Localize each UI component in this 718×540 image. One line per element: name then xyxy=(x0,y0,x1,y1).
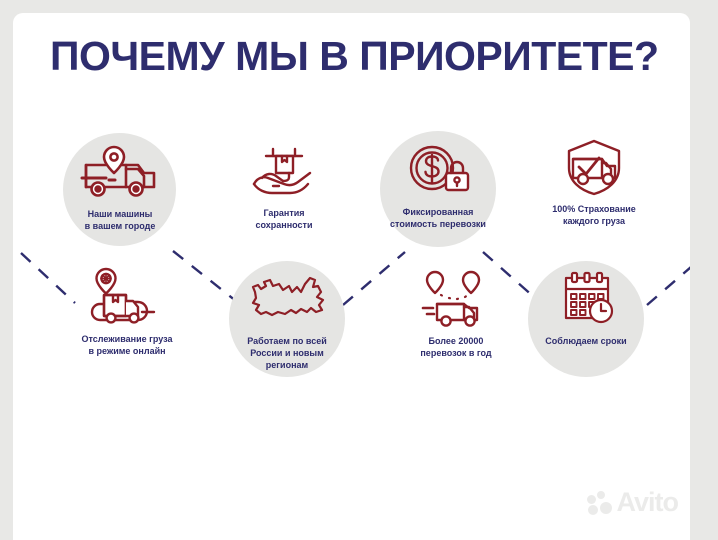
feature-all-russia: Работаем по всей России и новым регионам xyxy=(212,272,362,371)
feature-shipments-per-year: Более 20000 перевозок в год xyxy=(381,272,531,359)
feature-insurance: 100% Страхование каждого груза xyxy=(519,140,669,227)
caption-on-time: Соблюдаем сроки xyxy=(511,335,661,347)
caption-safety-guarantee: Гарантия сохранности xyxy=(209,207,359,231)
caption-all-russia: Работаем по всей России и новым регионам xyxy=(212,335,362,371)
caption-shipments-per-year: Более 20000 перевозок в год xyxy=(381,335,531,359)
feature-safety-guarantee: Гарантия сохранности xyxy=(209,144,359,231)
calendar-clock-icon xyxy=(511,272,661,328)
caption-fixed-price: Фиксированная стоимость перевозки xyxy=(363,206,513,230)
avito-watermark: Avito xyxy=(587,487,679,518)
caption-online-tracking: Отслеживание груза в режиме онлайн xyxy=(52,333,202,357)
russia-map-icon xyxy=(212,272,362,328)
avito-logo-icon xyxy=(587,491,613,515)
page-title: ПОЧЕМУ МЫ В ПРИОРИТЕТЕ? xyxy=(50,33,659,80)
poster-card: ПОЧЕМУ МЫ В ПРИОРИТЕТЕ? xyxy=(13,13,690,540)
hand-holding-box-icon xyxy=(209,144,359,200)
caption-insurance: 100% Страхование каждого груза xyxy=(519,203,669,227)
feature-fixed-price: Фиксированная стоимость перевозки xyxy=(363,143,513,230)
caption-our-trucks: Наши машины в вашем городе xyxy=(45,208,195,232)
truck-route-tracking-icon xyxy=(52,270,202,326)
shield-truck-check-icon xyxy=(519,140,669,196)
feature-on-time: Соблюдаем сроки xyxy=(511,272,661,347)
avito-watermark-text: Avito xyxy=(617,487,679,518)
feature-online-tracking: Отслеживание груза в режиме онлайн xyxy=(52,270,202,357)
truck-with-location-pin-icon xyxy=(45,145,195,201)
dollar-coin-lock-icon xyxy=(363,143,513,199)
feature-our-trucks: Наши машины в вашем городе xyxy=(45,145,195,232)
truck-two-pins-icon xyxy=(381,272,531,328)
